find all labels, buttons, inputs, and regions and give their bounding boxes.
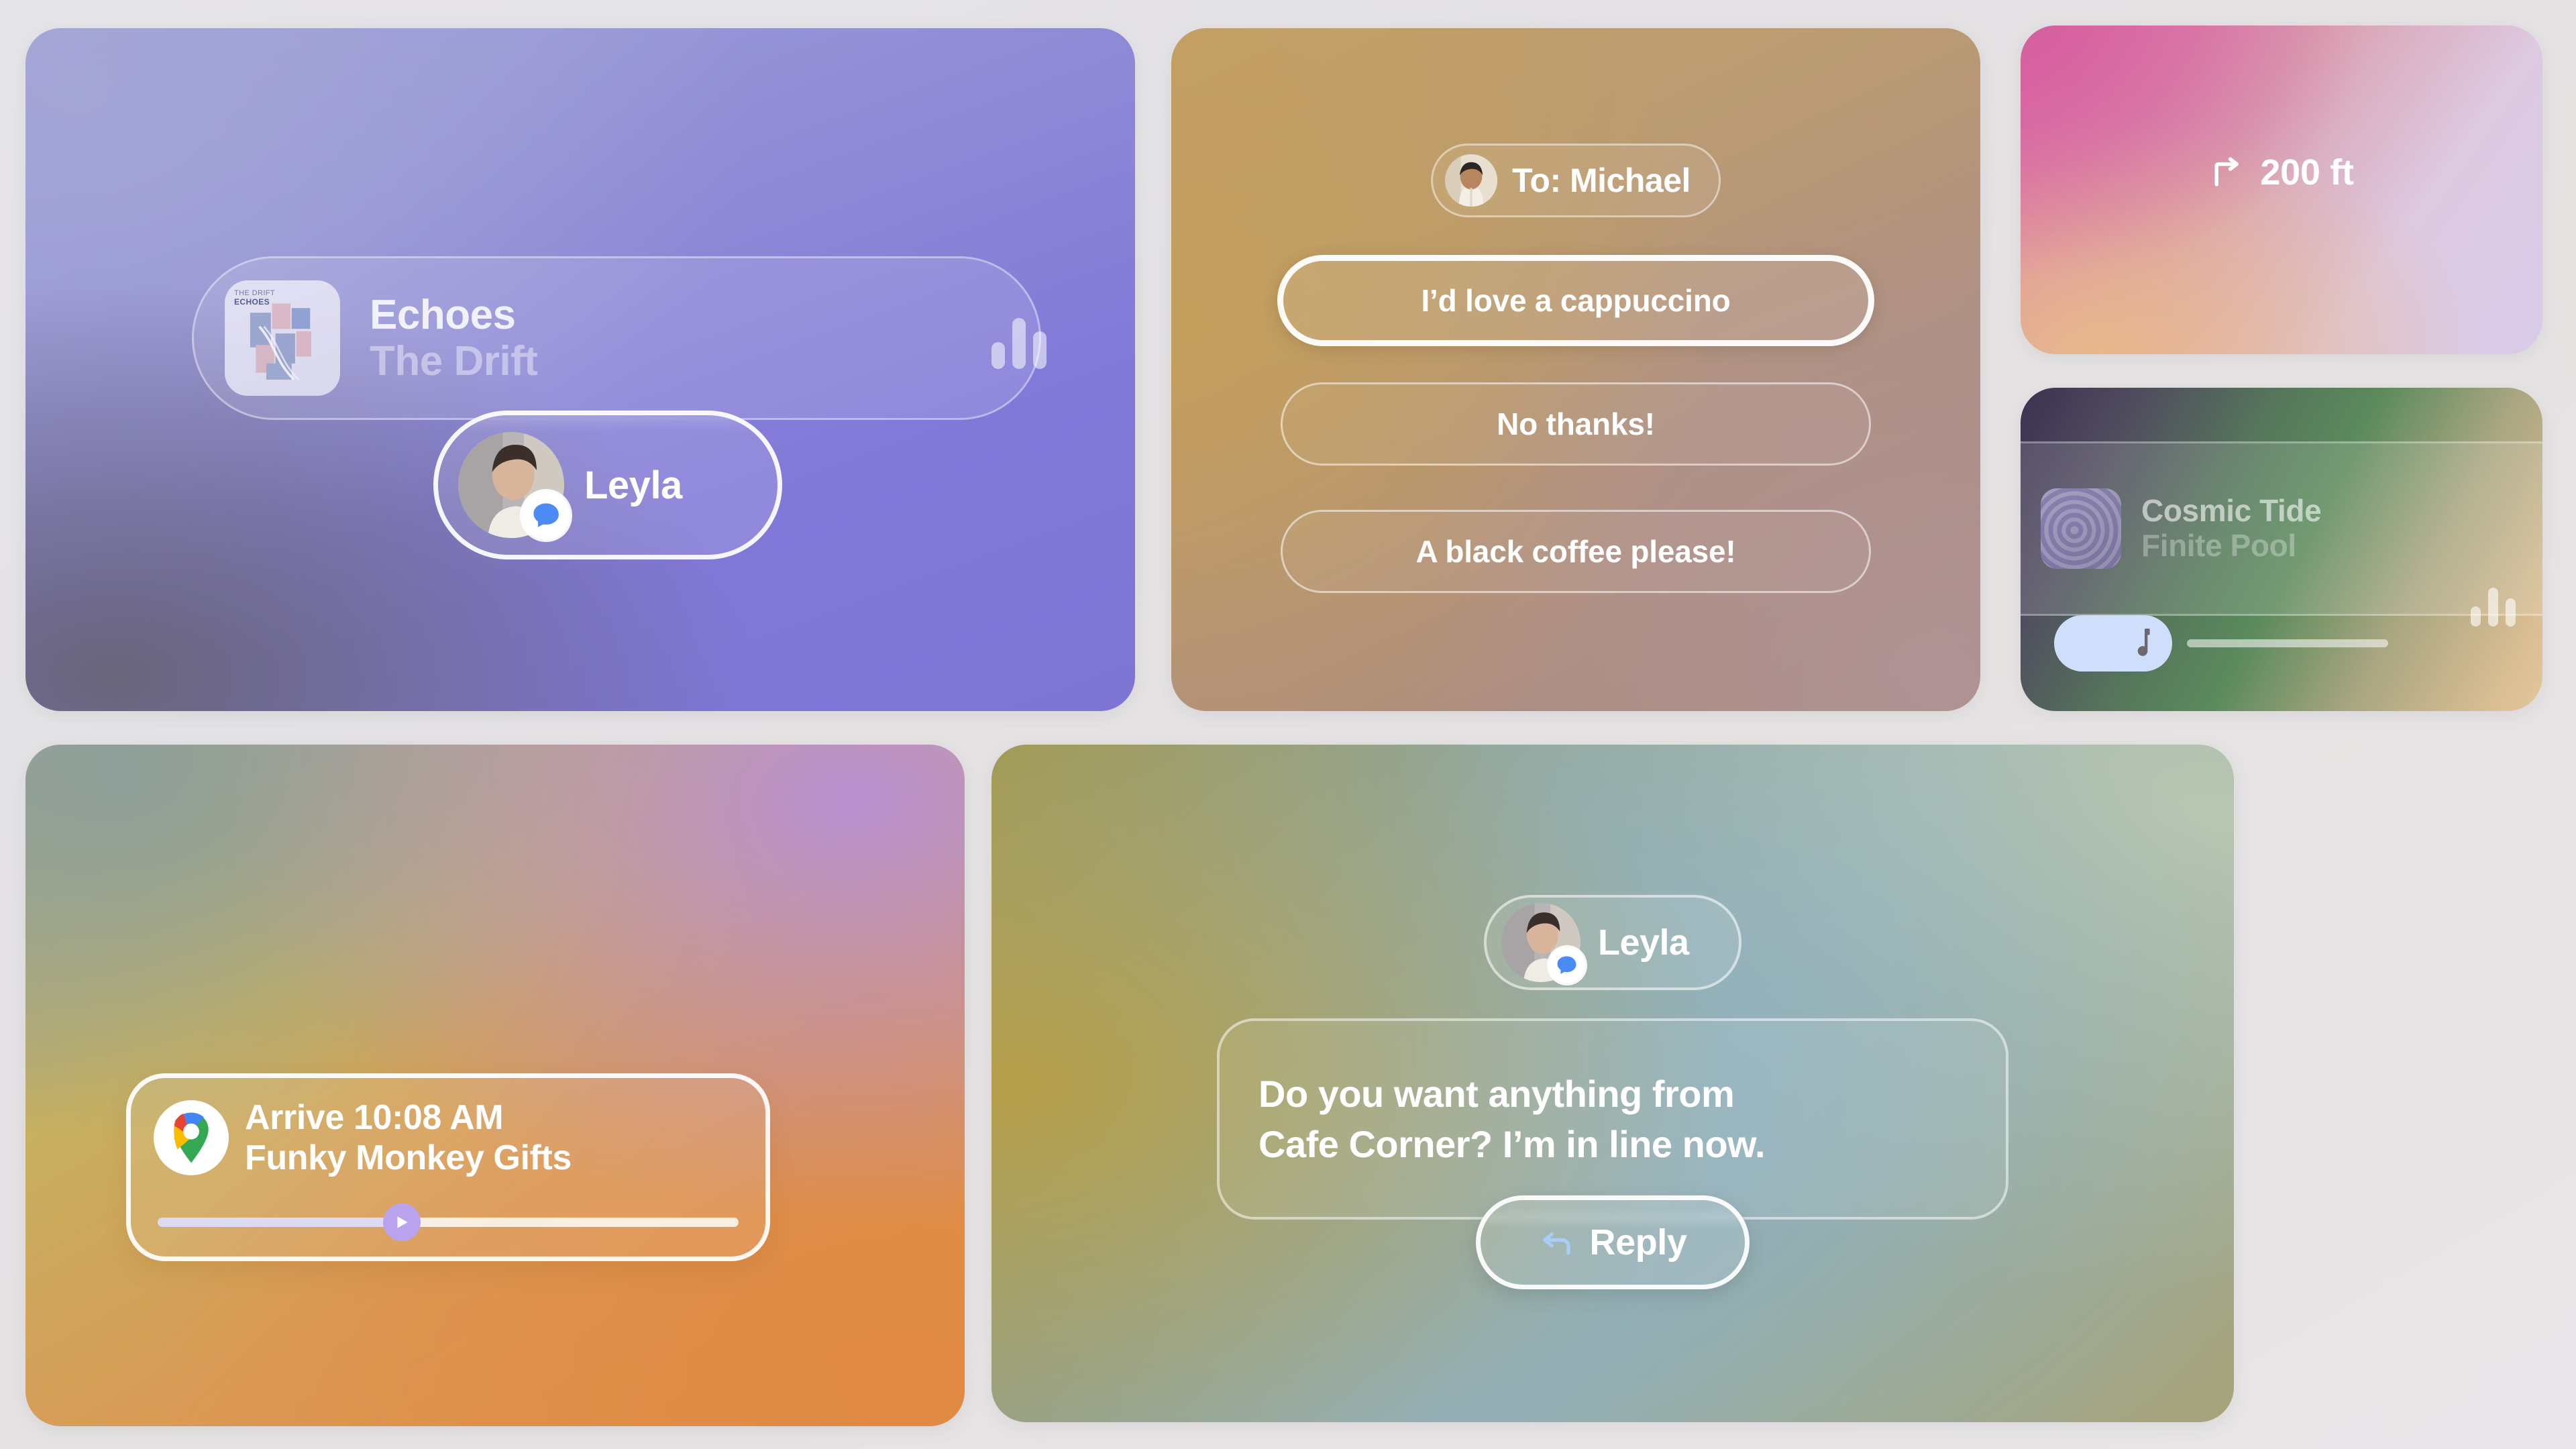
navigation-arrow-icon [393,1214,411,1231]
arrival-time-label: Arrive 10:08 AM [245,1098,572,1137]
track-artist: Finite Pool [2141,529,2321,563]
sender-name: Leyla [1598,922,1689,963]
message-bubble[interactable]: Do you want anything from Cafe Corner? I… [1217,1018,2008,1220]
reply-option-3[interactable]: A black coffee please! [1281,510,1871,593]
reply-option-2[interactable]: No thanks! [1281,382,1871,466]
chat-bubble-icon [1554,953,1580,979]
equalizer-icon [991,318,1046,369]
track-title: Echoes [370,293,537,337]
recipient-chip[interactable]: To: Michael [1431,144,1721,217]
music-widget-card[interactable]: THE DRIFT ECHOES Echoes The Drift [25,28,1135,711]
message-line-2: Cafe Corner? I’m in line now. [1258,1119,1765,1169]
avatar-photo [1445,154,1497,207]
reply-button-label: Reply [1589,1222,1686,1263]
google-maps-pin-icon [154,1100,229,1175]
turn-right-icon [2209,154,2245,191]
now-playing-pill[interactable]: THE DRIFT ECHOES Echoes The Drift [192,256,1041,420]
reply-button[interactable]: Reply [1476,1195,1750,1289]
album-art-shapes [225,280,340,396]
music-note-pill[interactable] [2054,615,2172,672]
avatar [1501,903,1580,982]
music-note-icon [2125,626,2155,661]
destination-label: Funky Monkey Gifts [245,1138,572,1177]
now-playing-overlay[interactable]: Cosmic Tide Finite Pool [2021,441,2542,616]
avatar [458,432,564,538]
route-progress-knob[interactable] [383,1203,421,1241]
cosmic-tide-music-card[interactable]: Cosmic Tide Finite Pool [2021,388,2542,711]
arrival-text: Arrive 10:08 AM Funky Monkey Gifts [245,1098,572,1177]
navigation-distance-card[interactable]: 200 ft [2021,25,2542,354]
reply-option-1[interactable]: I’d love a cappuccino [1277,255,1874,346]
google-messages-badge [1549,947,1585,983]
navigation-distance-row: 200 ft [2021,152,2542,193]
reply-arrow-icon [1538,1224,1574,1260]
google-messages-badge [522,491,571,540]
track-info: Cosmic Tide Finite Pool [2141,494,2321,562]
reply-option-label: I’d love a cappuccino [1421,282,1730,319]
arrival-info-panel[interactable]: Arrive 10:08 AM Funky Monkey Gifts [126,1073,770,1261]
track-info: Echoes The Drift [370,293,537,383]
chat-bubble-icon [529,498,563,533]
playback-slider-row[interactable] [2054,613,2524,674]
arrival-row: Arrive 10:08 AM Funky Monkey Gifts [131,1078,765,1177]
route-progress-elapsed [158,1218,402,1227]
avatar-illustration [1445,154,1497,207]
contact-name: Leyla [584,463,682,508]
widget-canvas: THE DRIFT ECHOES Echoes The Drift [0,0,2576,1449]
route-progress-remaining [413,1218,739,1227]
sender-chip[interactable]: Leyla [1484,895,1741,990]
reply-option-label: No thanks! [1497,406,1655,442]
recipient-label: To: Michael [1512,161,1690,200]
reply-option-label: A black coffee please! [1415,533,1735,570]
distance-label: 200 ft [2260,152,2353,193]
playback-progress-track[interactable] [2187,639,2388,647]
suggested-replies-card[interactable]: To: Michael I’d love a cappuccino No tha… [1171,28,1980,711]
contact-chip-leyla[interactable]: Leyla [433,411,782,559]
message-widget-card[interactable]: Leyla Do you want anything from Cafe Cor… [991,745,2234,1422]
message-line-1: Do you want anything from [1258,1069,1734,1119]
album-art [2041,488,2121,569]
navigation-arrival-card[interactable]: Arrive 10:08 AM Funky Monkey Gifts 8:32 [25,745,965,1426]
route-progress-bar[interactable] [158,1218,739,1227]
track-artist: The Drift [370,339,537,383]
avatar [1445,154,1497,207]
track-title: Cosmic Tide [2141,494,2321,528]
album-art: THE DRIFT ECHOES [225,280,340,396]
